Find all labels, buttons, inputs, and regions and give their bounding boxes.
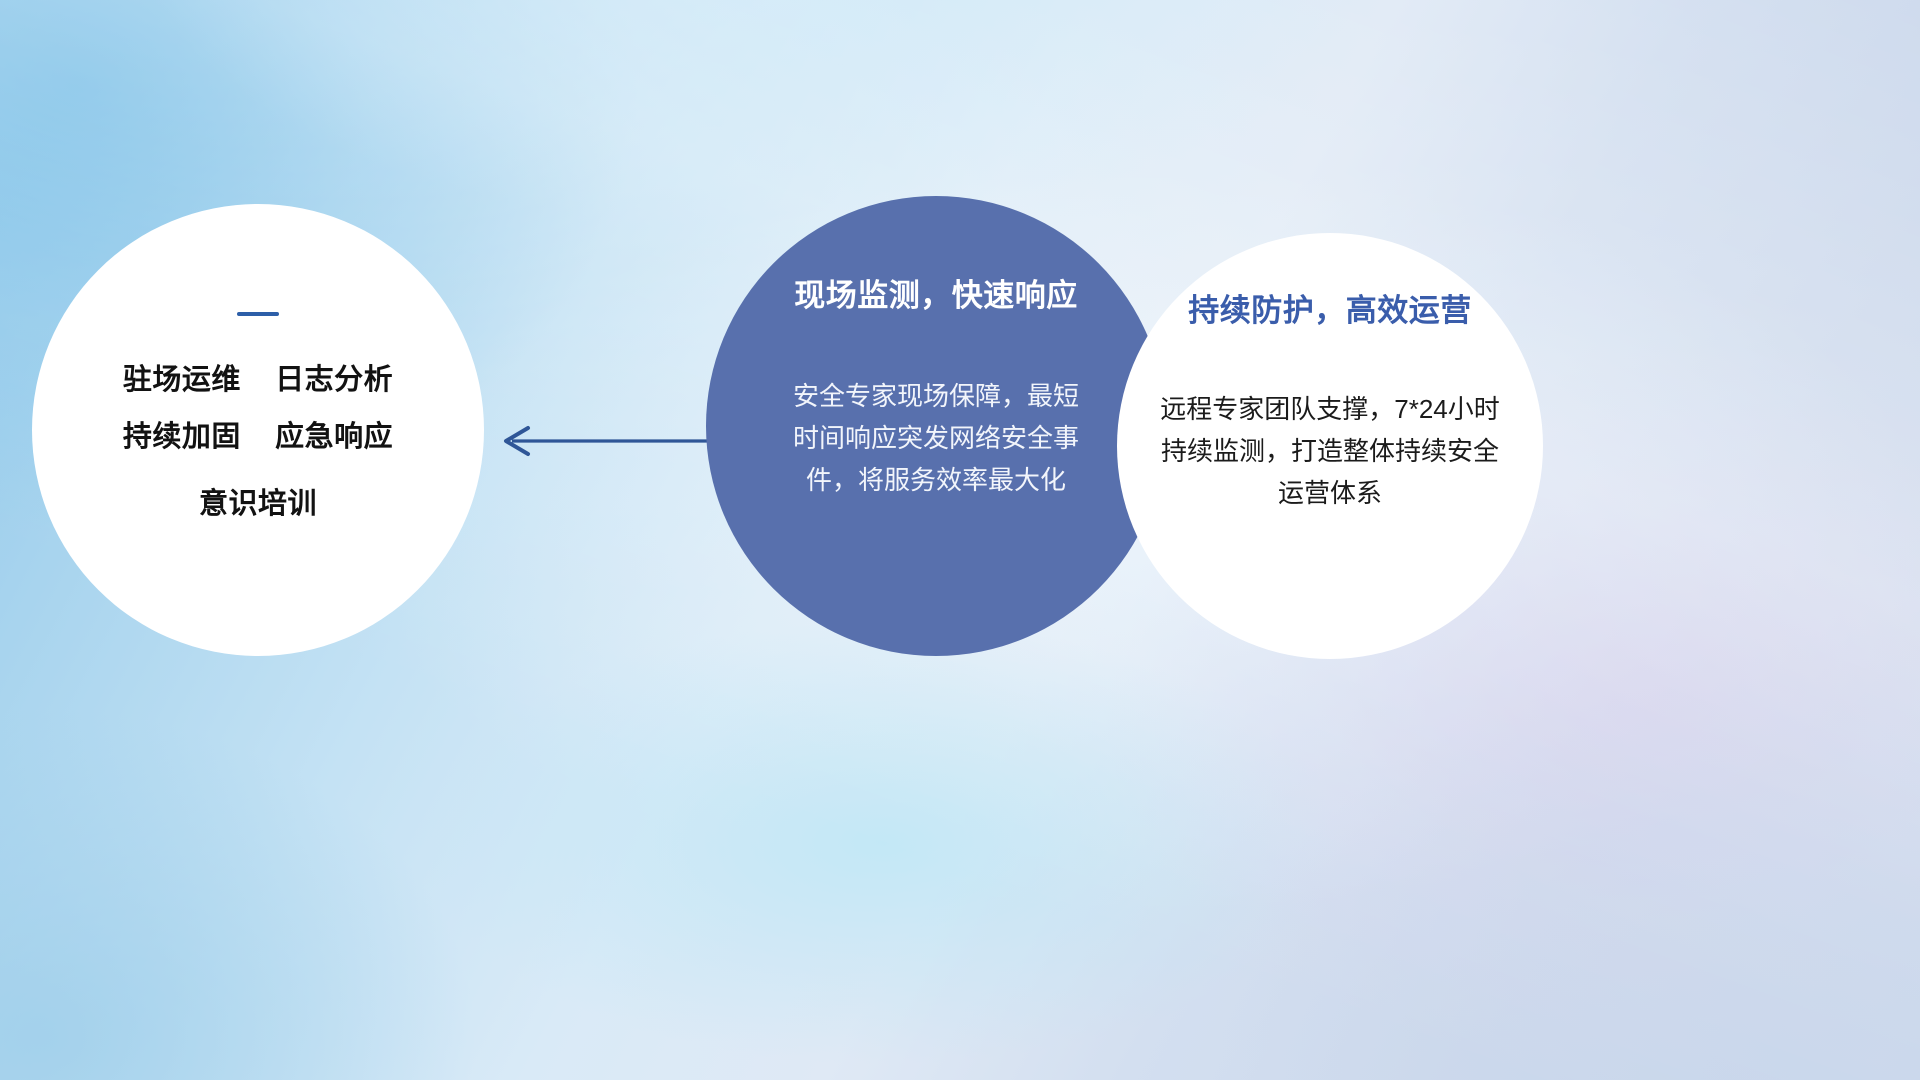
capability-line-1: 驻场运维 日志分析 <box>123 366 393 395</box>
capability-line-3: 意识培训 <box>199 490 317 519</box>
continuous-protection-body: 远程专家团队支撑，7*24小时持续监测，打造整体持续安全运营体系 <box>1152 388 1508 514</box>
arrow-left-icon <box>480 418 740 464</box>
onsite-monitoring-title: 现场监测，快速响应 <box>794 280 1078 311</box>
onsite-monitoring-circle[interactable]: 现场监测，快速响应 安全专家现场保障，最短时间响应突发网络安全事件，将服务效率最… <box>706 196 1166 656</box>
continuous-protection-title: 持续防护，高效运营 <box>1188 295 1472 326</box>
continuous-protection-circle[interactable]: 持续防护，高效运营 远程专家团队支撑，7*24小时持续监测，打造整体持续安全运营… <box>1117 233 1543 659</box>
onsite-monitoring-body: 安全专家现场保障，最短时间响应突发网络安全事件，将服务效率最大化 <box>786 375 1086 501</box>
capability-line-2: 持续加固 应急响应 <box>123 423 393 452</box>
capability-circle[interactable]: 驻场运维 日志分析 持续加固 应急响应 意识培训 <box>32 204 484 656</box>
divider-dash-icon <box>237 312 279 316</box>
slide-canvas: 驻场运维 日志分析 持续加固 应急响应 意识培训 现场监测，快速响应 安全专家现… <box>0 0 1920 1080</box>
